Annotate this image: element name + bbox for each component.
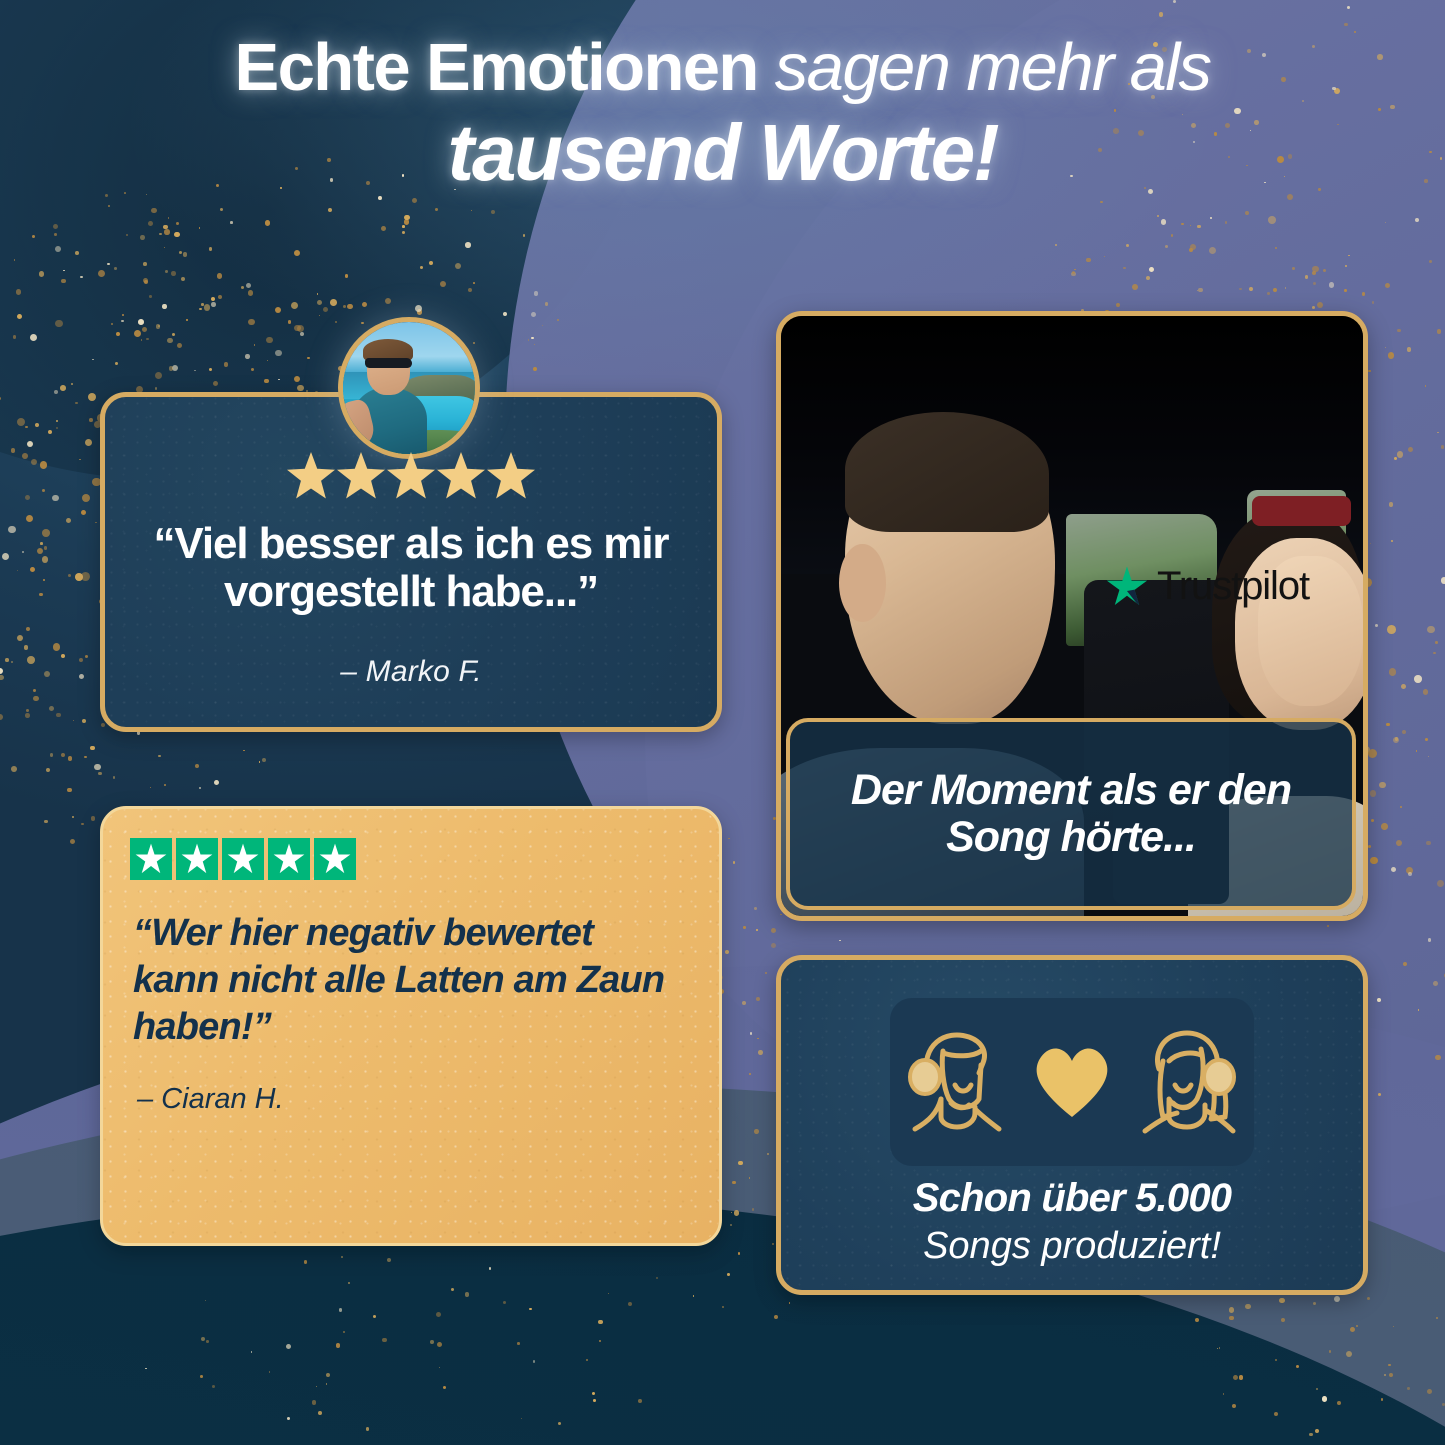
- sunglasses-icon: [365, 358, 411, 369]
- testimonial-poster: Echte Emotionen sagen mehr als tausend W…: [0, 0, 1445, 1445]
- trustpilot-star-rating: [130, 838, 356, 880]
- man-headphones-icon: [895, 1017, 1015, 1147]
- photo-woman-sunglasses: [1252, 496, 1351, 526]
- photo-man-hair: [845, 412, 1049, 532]
- page-title: Echte Emotionen sagen mehr als tausend W…: [0, 34, 1445, 193]
- trustpilot-star-box: [314, 838, 356, 880]
- photo-caption-text: Der Moment als er den Song hörte...: [790, 767, 1352, 862]
- star-icon: [487, 452, 535, 500]
- review-quote-trustpilot: “Wer hier negativ bewertet kann nicht al…: [133, 910, 673, 1051]
- woman-headphones-icon: [1129, 1017, 1249, 1147]
- trustpilot-star-box: [222, 838, 264, 880]
- stats-line1: Schon über 5.000: [776, 1176, 1368, 1220]
- photo-caption-overlay: Der Moment als er den Song hörte...: [786, 718, 1356, 910]
- star-icon: [273, 843, 305, 875]
- star-icon: [319, 843, 351, 875]
- review-author-dark: – Marko F.: [130, 655, 692, 689]
- star-rating-dark: [100, 452, 722, 500]
- avatar: [338, 317, 480, 459]
- heart-icon: [1029, 1041, 1115, 1123]
- review-author-trustpilot: – Ciaran H.: [137, 1083, 284, 1116]
- trustpilot-star-box: [130, 838, 172, 880]
- stats-line2: Songs produziert!: [776, 1226, 1368, 1268]
- stats-icon-panel: [890, 998, 1254, 1166]
- star-icon: [437, 452, 485, 500]
- trustpilot-logo: Trustpilot: [1106, 564, 1309, 609]
- star-icon: [181, 843, 213, 875]
- photo-man-ear: [839, 544, 886, 622]
- headline-line1-italic: sagen mehr als: [758, 30, 1211, 105]
- headline-line2: tausend Worte!: [448, 108, 998, 197]
- star-icon: [135, 843, 167, 875]
- trustpilot-star-box: [176, 838, 218, 880]
- trustpilot-star-box: [268, 838, 310, 880]
- star-icon: [387, 452, 435, 500]
- stats-text: Schon über 5.000 Songs produziert!: [776, 1176, 1368, 1268]
- trustpilot-star-icon: [1106, 566, 1148, 608]
- star-icon: [337, 452, 385, 500]
- review-quote-dark: “Viel besser als ich es mir vorgestellt …: [130, 520, 692, 615]
- headline-line1-bold: Echte Emotionen: [235, 30, 758, 105]
- star-icon: [287, 452, 335, 500]
- star-icon: [227, 843, 259, 875]
- trustpilot-wordmark: Trustpilot: [1157, 564, 1309, 609]
